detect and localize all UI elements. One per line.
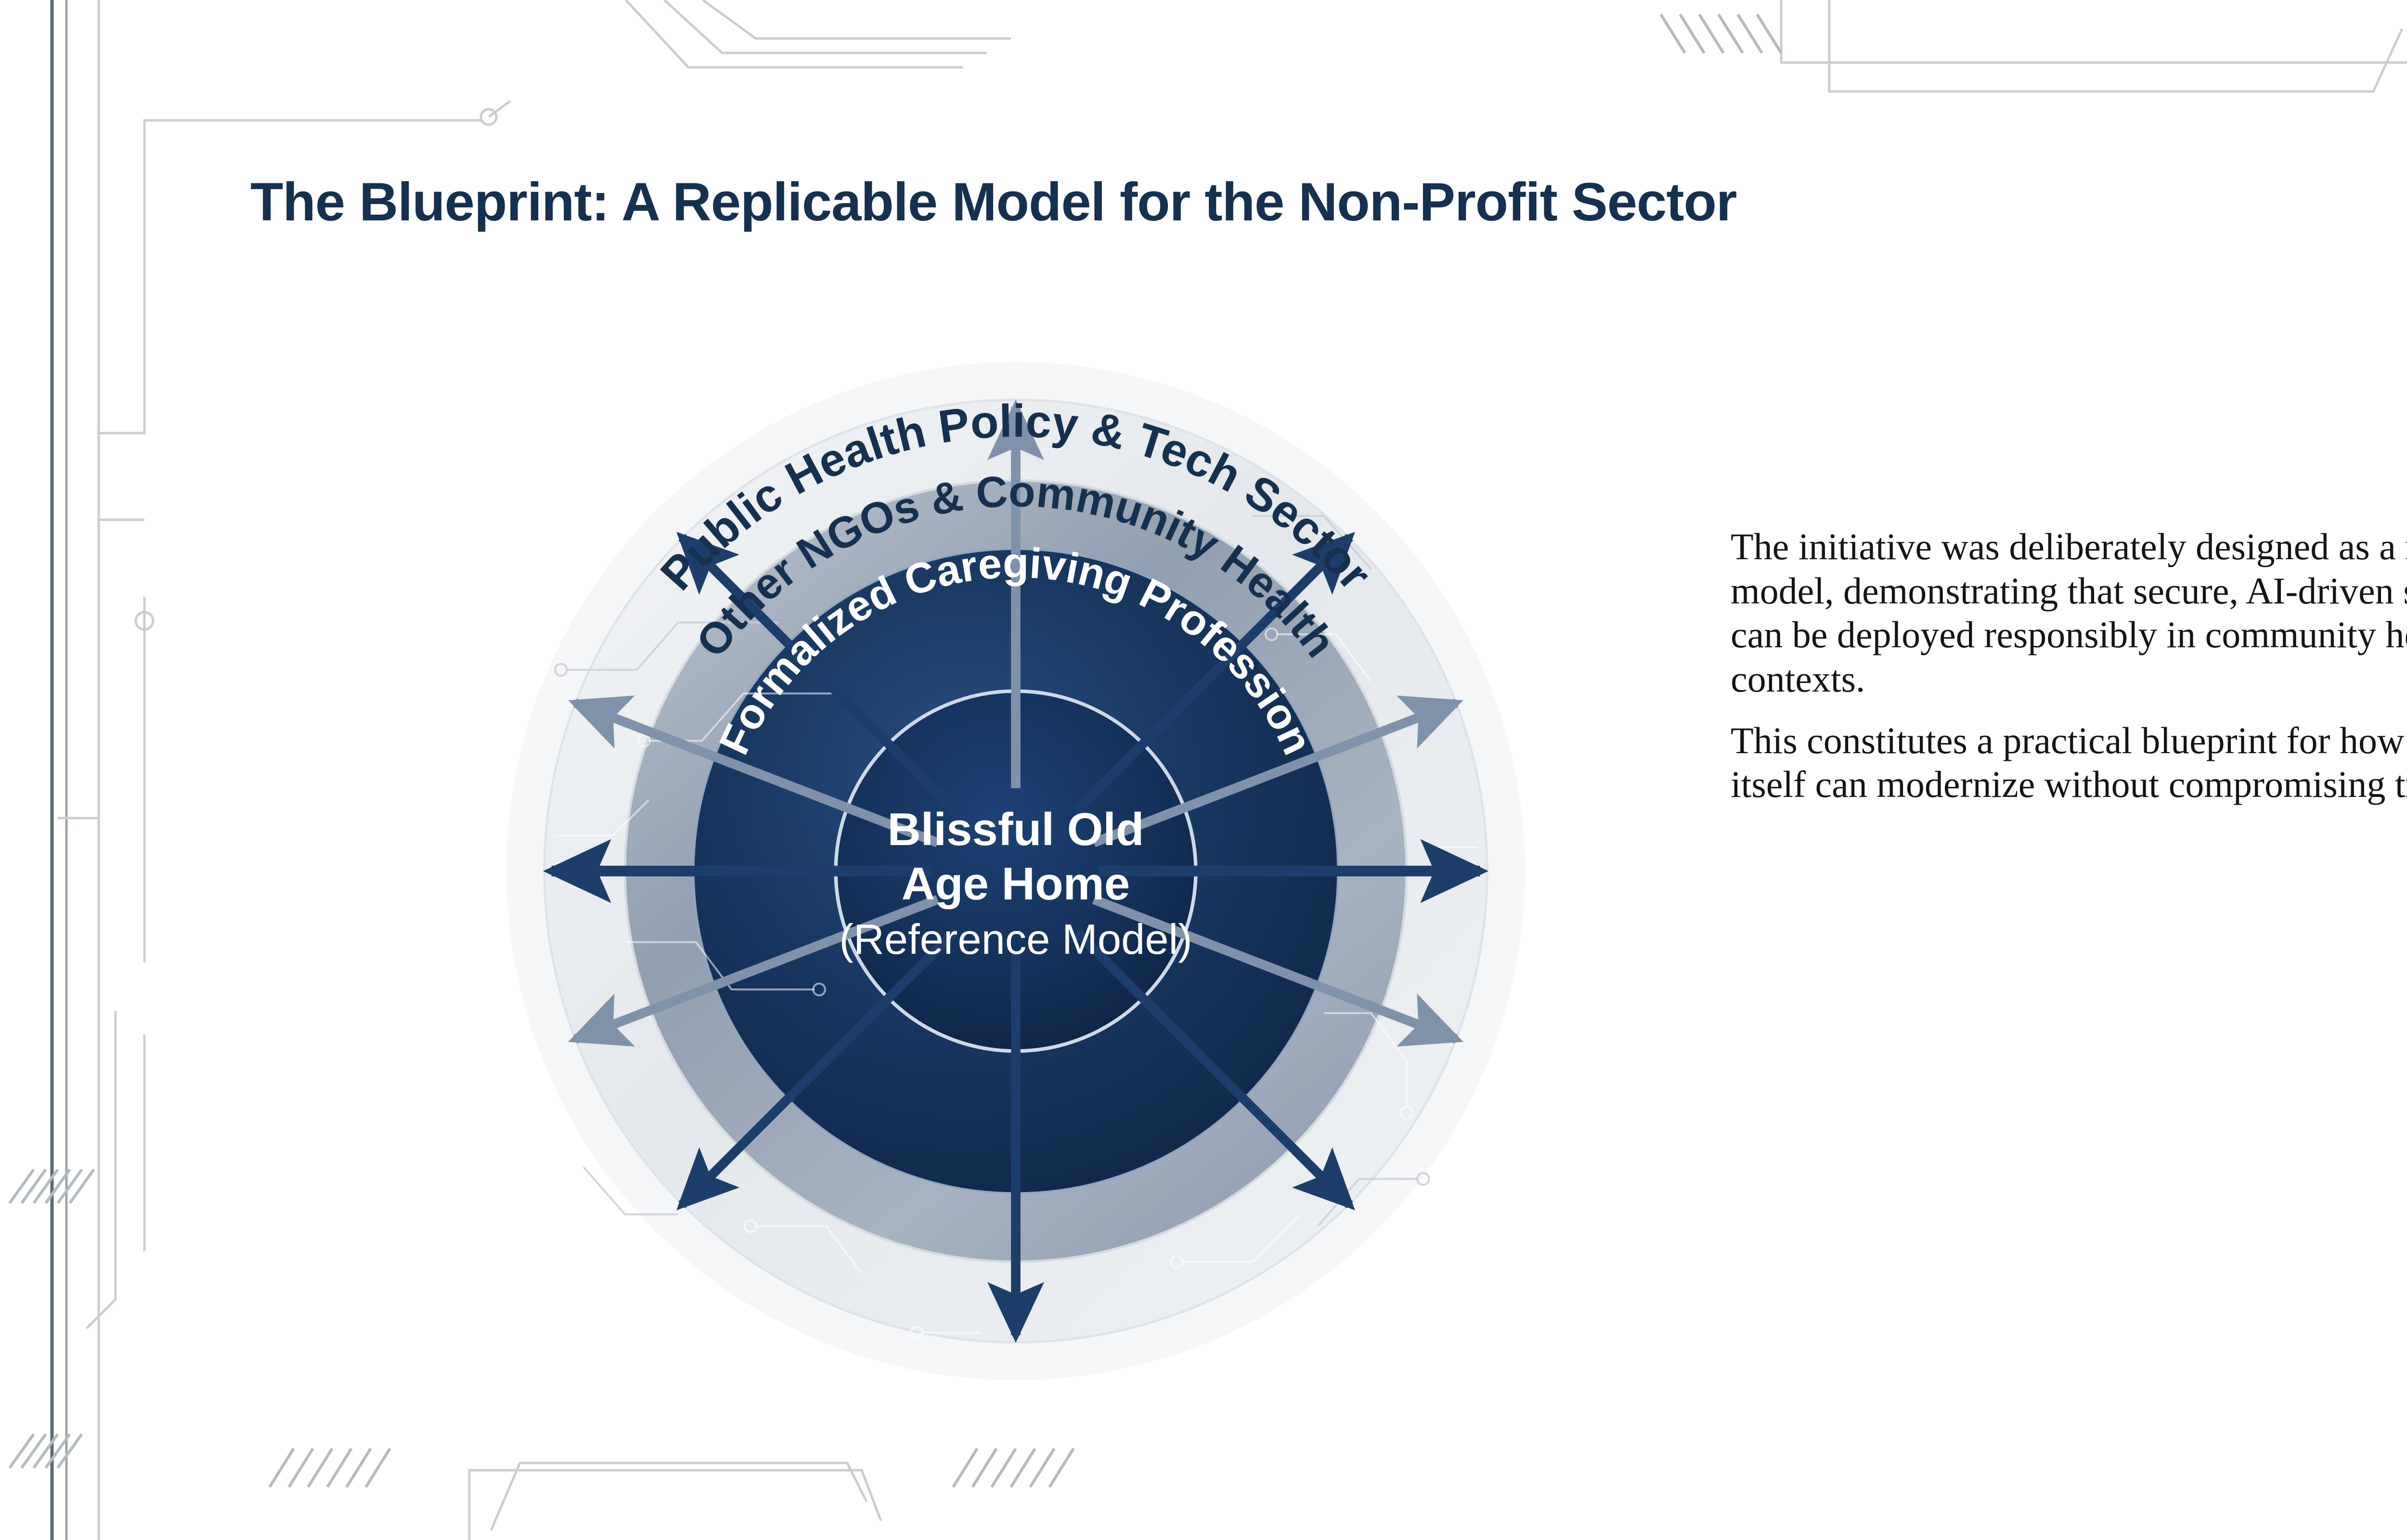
core-label-line3: (Reference Model) [839, 915, 1192, 963]
slide-title: The Blueprint: A Replicable Model for th… [250, 171, 1737, 233]
body-text-column: The initiative was deliberately designed… [1731, 525, 2407, 807]
core-label-line1: Blissful Old [887, 804, 1144, 855]
slide-root: The Blueprint: A Replicable Model for th… [0, 0, 2407, 1540]
body-paragraph-1: The initiative was deliberately designed… [1731, 525, 2407, 701]
core-label-line2: Age Home [902, 858, 1130, 910]
concentric-ring-diagram: Public Health Policy & Tech Sector Other… [424, 279, 1608, 1463]
body-paragraph-2: This constitutes a practical blueprint f… [1731, 719, 2407, 807]
